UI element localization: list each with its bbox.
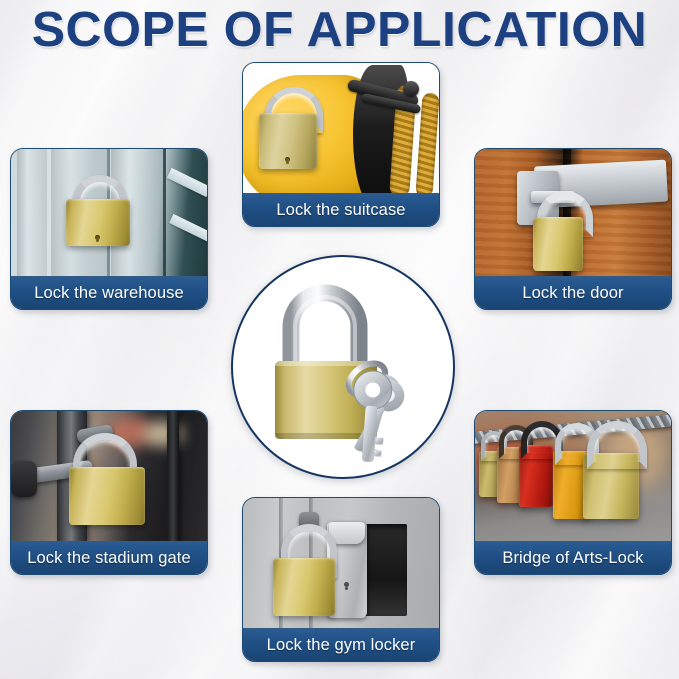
photo-door xyxy=(475,149,671,277)
panel-warehouse[interactable]: Lock the warehouse xyxy=(10,148,208,310)
photo-stadium-gate xyxy=(11,411,207,542)
padlock-shackle-icon xyxy=(291,293,359,369)
padlock-body-icon xyxy=(533,217,583,271)
caption-door: Lock the door xyxy=(475,276,671,309)
page-title: SCOPE OF APPLICATION xyxy=(0,2,679,58)
caption-warehouse: Lock the warehouse xyxy=(11,276,207,309)
padlock-body-icon xyxy=(273,558,335,616)
photo-gym-locker xyxy=(243,498,439,629)
padlock-with-keys-icon xyxy=(233,257,453,477)
center-product-badge xyxy=(231,255,455,479)
caption-gym-locker: Lock the gym locker xyxy=(243,628,439,661)
panel-gym-locker[interactable]: Lock the gym locker xyxy=(242,497,440,662)
padlock-body-icon xyxy=(69,467,145,525)
photo-bridge-of-arts xyxy=(475,411,671,542)
infographic-canvas: SCOPE OF APPLICATION Lock the warehouse xyxy=(0,0,679,679)
panel-stadium-gate[interactable]: Lock the stadium gate xyxy=(10,410,208,575)
panel-door[interactable]: Lock the door xyxy=(474,148,672,310)
panel-suitcase[interactable]: Lock the suitcase xyxy=(242,62,440,227)
photo-warehouse xyxy=(11,149,207,277)
caption-stadium-gate: Lock the stadium gate xyxy=(11,541,207,574)
photo-suitcase xyxy=(243,63,439,194)
caption-suitcase: Lock the suitcase xyxy=(243,193,439,226)
caption-bridge-of-arts: Bridge of Arts-Lock xyxy=(475,541,671,574)
panel-bridge-of-arts[interactable]: Bridge of Arts-Lock xyxy=(474,410,672,575)
